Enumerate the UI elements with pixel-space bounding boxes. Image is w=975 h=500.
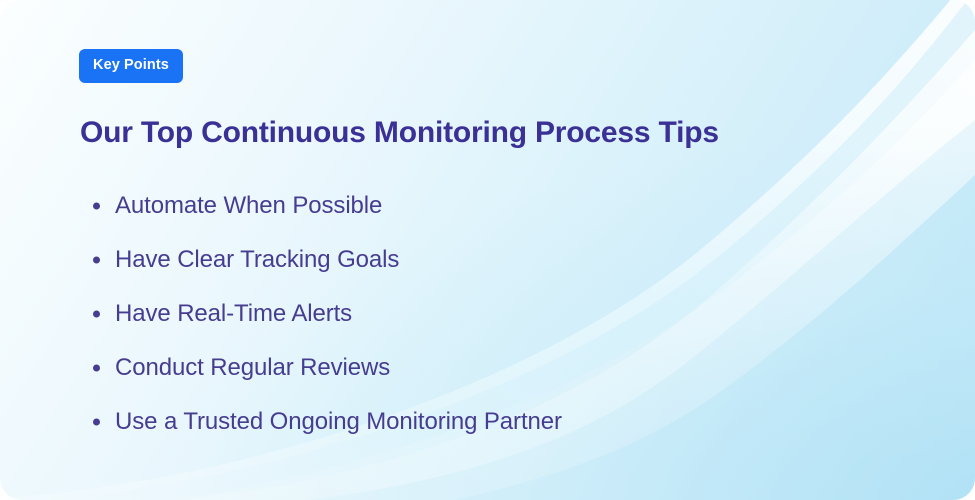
bullet-icon — [93, 203, 100, 210]
bullet-icon — [93, 257, 100, 264]
key-points-badge: Key Points — [79, 49, 183, 83]
list-item-label: Conduct Regular Reviews — [115, 356, 390, 380]
bullet-icon — [93, 419, 100, 426]
card-content: Key Points Our Top Continuous Monitoring… — [0, 0, 975, 449]
tips-list: Automate When Possible Have Clear Tracki… — [79, 179, 975, 449]
list-item: Have Real-Time Alerts — [79, 287, 975, 341]
list-item: Automate When Possible — [79, 179, 975, 233]
list-item: Use a Trusted Ongoing Monitoring Partner — [79, 395, 975, 449]
bullet-icon — [93, 311, 100, 318]
list-item: Conduct Regular Reviews — [79, 341, 975, 395]
bullet-icon — [93, 365, 100, 372]
list-item-label: Have Real-Time Alerts — [115, 302, 352, 326]
list-item-label: Use a Trusted Ongoing Monitoring Partner — [115, 410, 562, 434]
list-item-label: Automate When Possible — [115, 194, 382, 218]
key-points-card: Key Points Our Top Continuous Monitoring… — [0, 0, 975, 500]
list-item: Have Clear Tracking Goals — [79, 233, 975, 287]
page-title: Our Top Continuous Monitoring Process Ti… — [80, 117, 975, 149]
list-item-label: Have Clear Tracking Goals — [115, 248, 399, 272]
